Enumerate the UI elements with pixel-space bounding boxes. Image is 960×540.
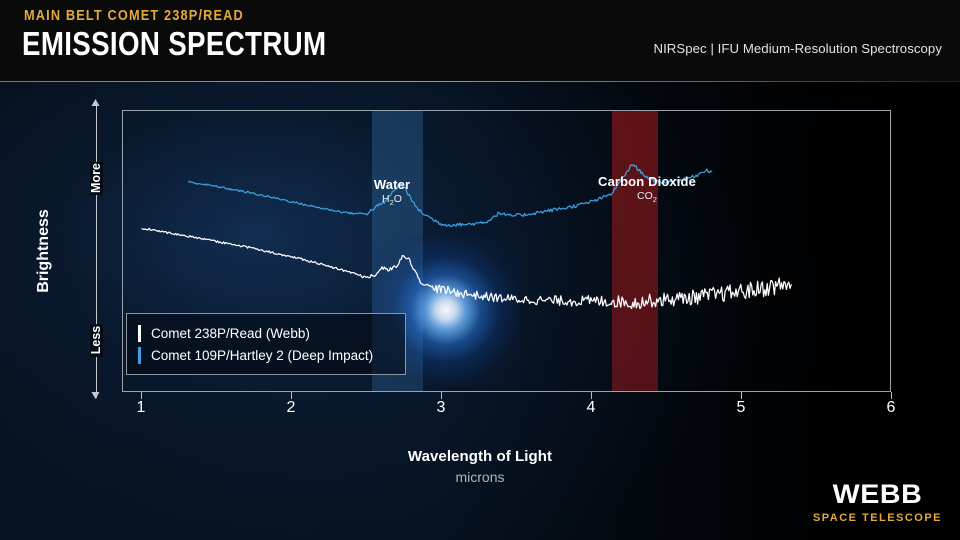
legend-label-hartley: Comet 109P/Hartley 2 (Deep Impact): [151, 348, 373, 363]
webb-logo: WEBB SPACE TELESCOPE: [813, 481, 942, 524]
y-axis-label-more: More: [89, 163, 103, 193]
x-axis-tick-label: 5: [737, 399, 746, 417]
x-axis-tick-label: 6: [887, 399, 896, 417]
legend-item-webb: Comet 238P/Read (Webb): [138, 322, 405, 344]
webb-logo-subtitle: SPACE TELESCOPE: [813, 512, 942, 524]
webb-logo-name: WEBB: [809, 481, 946, 508]
y-axis-title: Brightness: [35, 209, 53, 293]
legend-swatch-webb: [138, 325, 141, 342]
annotation-carbon-dioxide: Carbon Dioxide CO2: [562, 174, 732, 204]
y-axis-up-arrow-icon: [92, 99, 100, 106]
annotation-water: Water H2O: [337, 177, 447, 207]
annotation-water-formula: H2O: [337, 193, 447, 207]
x-axis-title: Wavelength of Light: [0, 448, 960, 465]
header-bar: MAIN BELT COMET 238P/READ EMISSION SPECT…: [0, 0, 960, 82]
page-title: EMISSION SPECTRUM: [22, 26, 326, 62]
eyebrow-title: MAIN BELT COMET 238P/READ: [24, 8, 244, 24]
instrument-caption: NIRSpec | IFU Medium-Resolution Spectros…: [653, 41, 942, 56]
x-axis-tick-label: 1: [137, 399, 146, 417]
x-axis-tick-label: 4: [587, 399, 596, 417]
y-axis-down-arrow-icon: [92, 392, 100, 399]
annotation-water-name: Water: [337, 177, 447, 192]
annotation-co2-formula: CO2: [562, 190, 732, 204]
x-axis-tick: [141, 392, 142, 399]
x-axis-tick-label: 3: [437, 399, 446, 417]
infographic-root: MAIN BELT COMET 238P/READ EMISSION SPECT…: [0, 0, 960, 540]
legend-label-webb: Comet 238P/Read (Webb): [151, 326, 310, 341]
x-axis-tick-label: 2: [287, 399, 296, 417]
x-axis-tick: [441, 392, 442, 399]
y-axis-label-less: Less: [89, 326, 103, 355]
legend-item-hartley: Comet 109P/Hartley 2 (Deep Impact): [138, 344, 405, 366]
x-axis-tick: [291, 392, 292, 399]
legend-swatch-hartley: [138, 347, 141, 364]
x-axis-tick: [591, 392, 592, 399]
x-axis-tick: [891, 392, 892, 399]
legend-box: Comet 238P/Read (Webb) Comet 109P/Hartle…: [126, 313, 406, 375]
x-axis-tick: [741, 392, 742, 399]
annotation-co2-name: Carbon Dioxide: [562, 174, 732, 189]
spectrum-line-webb: [142, 228, 791, 308]
